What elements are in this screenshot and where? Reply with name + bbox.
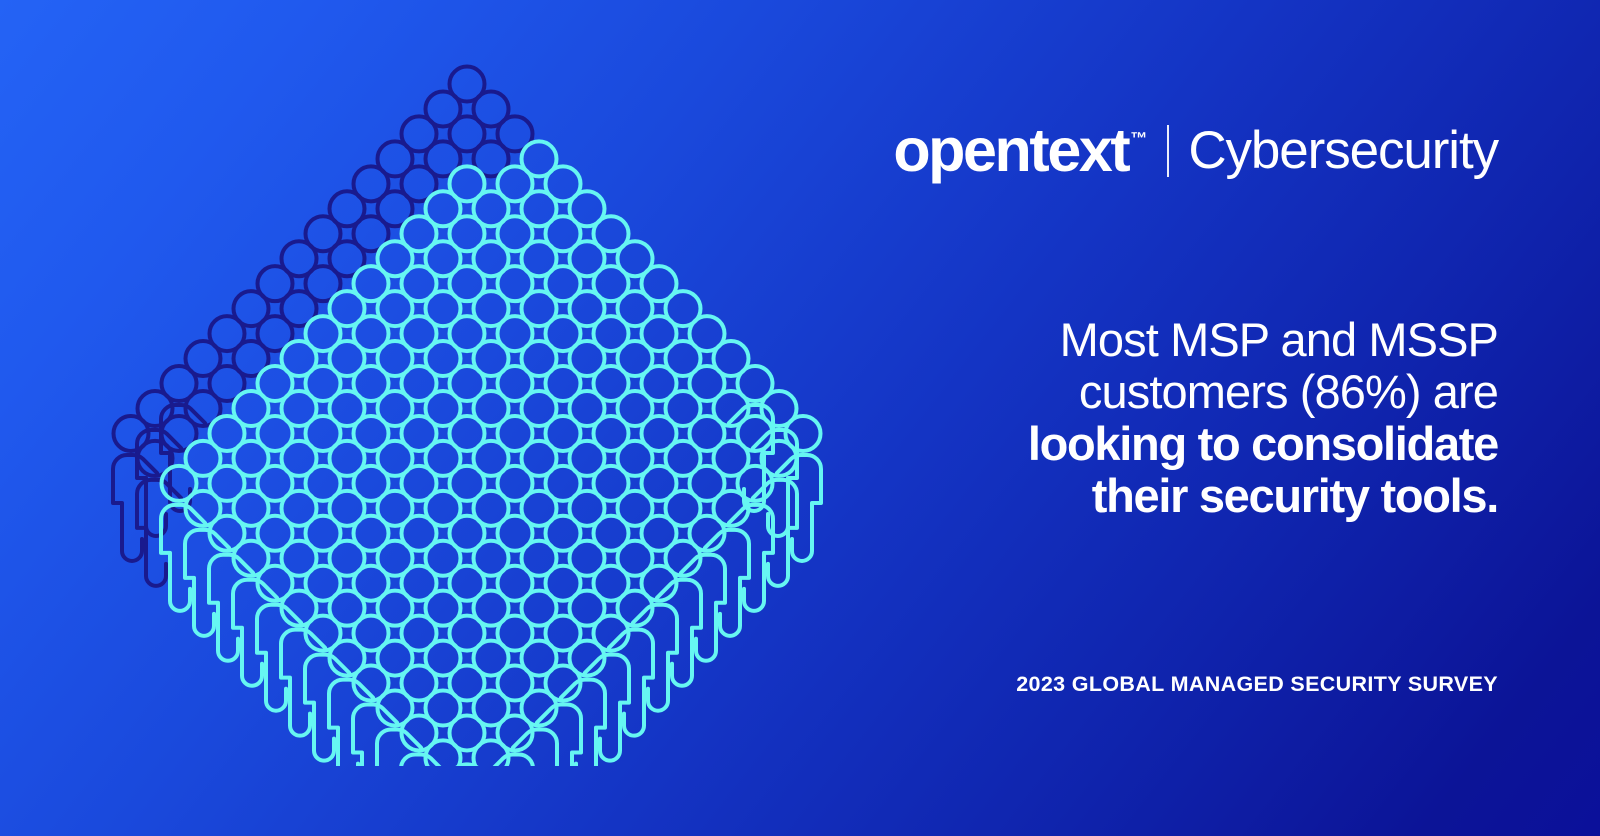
person-head-icon [449, 764, 486, 766]
poster-canvas: opentext ™ Cybersecurity Most MSP and MS… [0, 0, 1600, 836]
person-head-icon [474, 740, 509, 766]
survey-source-label: 2023 GLOBAL MANAGED SECURITY SURVEY [1016, 672, 1498, 697]
logo-divider [1167, 125, 1169, 177]
person-figure-icon [377, 729, 421, 766]
person-head-icon [426, 740, 461, 766]
headline-line-1: Most MSP and MSSP [838, 314, 1498, 366]
opentext-cybersecurity-logo: opentext ™ Cybersecurity [893, 120, 1498, 181]
person-figure-icon [401, 754, 445, 766]
headline-line-3: looking to consolidate [838, 418, 1498, 470]
person-figure-icon [513, 729, 557, 766]
cybersecurity-wordmark: Cybersecurity [1188, 124, 1498, 177]
trademark-symbol-icon: ™ [1130, 130, 1147, 147]
headline-statistic: Most MSP and MSSP customers (86%) are lo… [838, 314, 1498, 523]
person-figure-icon [489, 754, 533, 766]
people-diamond-pictogram [52, 46, 882, 766]
pictogram-people-group [113, 67, 821, 767]
content-column: opentext ™ Cybersecurity Most MSP and MS… [838, 0, 1498, 836]
opentext-wordmark: opentext [893, 120, 1128, 181]
headline-line-2: customers (86%) are [838, 366, 1498, 418]
headline-line-4: their security tools. [838, 470, 1498, 522]
